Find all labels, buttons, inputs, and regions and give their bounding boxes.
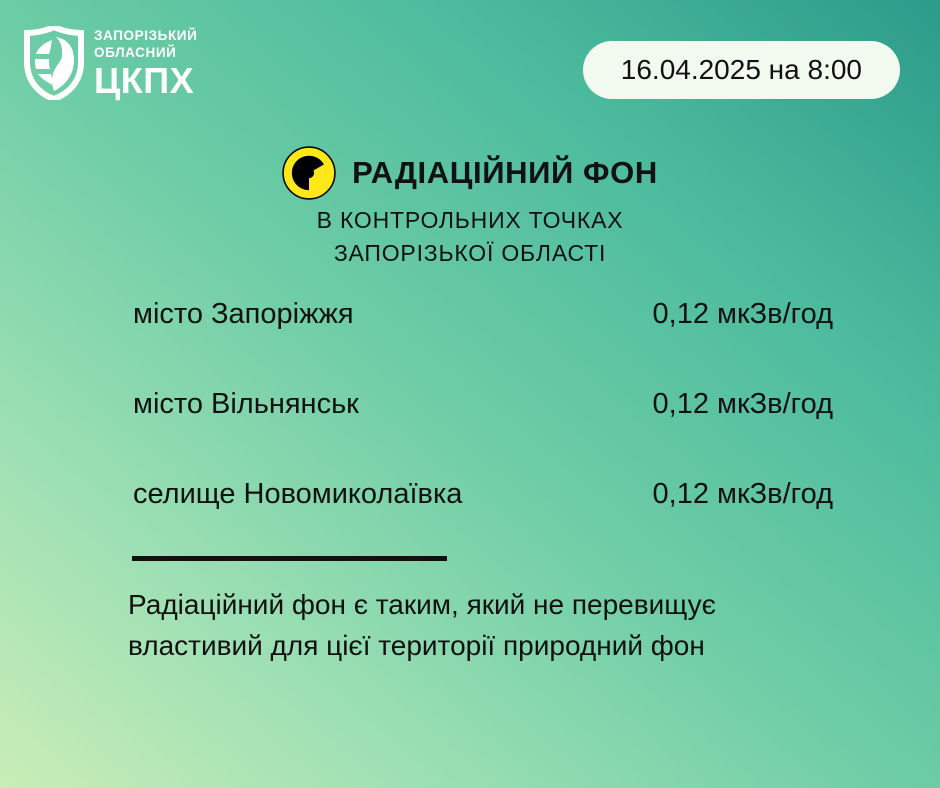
page-subtitle-line-1: В КОНТРОЛЬНИХ ТОЧКАХ (0, 207, 940, 234)
reading-place: місто Вільнянськ (133, 388, 359, 421)
radiation-background-poster: ЗАПОРІЗЬКИЙ ОБЛАСНИЙ ЦКПХ 16.04.2025 на … (0, 0, 940, 788)
page-title: РАДІАЦІЙНИЙ ФОН (352, 155, 658, 191)
footnote: Радіаційний фон є таким, який не перевищ… (128, 585, 888, 666)
shield-leaf-logo-icon (24, 26, 84, 100)
reading-value: 0,12 мкЗв/год (653, 298, 833, 331)
reading-row: селище Новомиколаївка 0,12 мкЗв/год (133, 478, 833, 568)
reading-value: 0,12 мкЗв/год (653, 478, 833, 511)
brand-text-block: ЗАПОРІЗЬКИЙ ОБЛАСНИЙ ЦКПХ (94, 27, 197, 98)
section-divider (132, 556, 447, 561)
date-badge-text: 16.04.2025 на 8:00 (621, 54, 862, 86)
brand-acronym: ЦКПХ (94, 64, 197, 98)
reading-place: місто Запоріжжя (133, 298, 354, 331)
title-main-row: РАДІАЦІЙНИЙ ФОН (0, 146, 940, 200)
brand-lockup: ЗАПОРІЗЬКИЙ ОБЛАСНИЙ ЦКПХ (24, 26, 197, 100)
brand-line-1: ЗАПОРІЗЬКИЙ (94, 29, 197, 43)
reading-value: 0,12 мкЗв/год (653, 388, 833, 421)
poster-header: ЗАПОРІЗЬКИЙ ОБЛАСНИЙ ЦКПХ 16.04.2025 на … (0, 0, 940, 130)
footnote-line-1: Радіаційний фон є таким, який не перевищ… (128, 585, 888, 626)
title-block: РАДІАЦІЙНИЙ ФОН В КОНТРОЛЬНИХ ТОЧКАХ ЗАП… (0, 146, 940, 267)
footnote-line-2: властивий для цієї території природний ф… (128, 626, 888, 667)
page-subtitle-line-2: ЗАПОРІЗЬКОЇ ОБЛАСТІ (0, 240, 940, 267)
readings-list: місто Запоріжжя 0,12 мкЗв/год місто Віль… (133, 298, 833, 568)
brand-line-2: ОБЛАСНИЙ (94, 46, 197, 60)
date-badge: 16.04.2025 на 8:00 (583, 41, 900, 99)
reading-row: місто Вільнянськ 0,12 мкЗв/год (133, 388, 833, 478)
reading-place: селище Новомиколаївка (133, 478, 462, 511)
radiation-hazard-icon (282, 146, 336, 200)
reading-row: місто Запоріжжя 0,12 мкЗв/год (133, 298, 833, 388)
